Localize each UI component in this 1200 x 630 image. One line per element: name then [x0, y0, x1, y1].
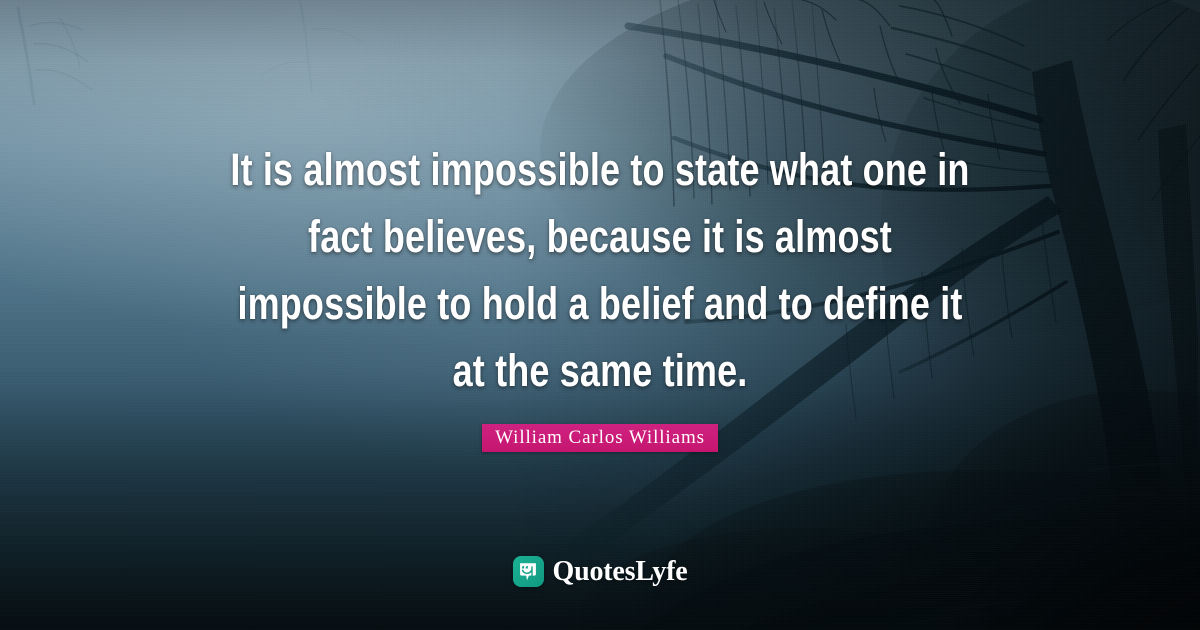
- quote-line: impossible to hold a belief and to defin…: [197, 270, 1003, 337]
- quote-line: It is almost impossible to state what on…: [197, 136, 1003, 203]
- quote-text: It is almost impossible to state what on…: [96, 136, 1104, 404]
- brand-logo[interactable]: QuotesLyfe: [0, 556, 1200, 587]
- brand-name: QuotesLyfe: [553, 557, 688, 587]
- quote-line: fact believes, because it is almost: [197, 203, 1003, 270]
- quote-bubble-icon: [513, 556, 544, 587]
- author-attribution: William Carlos Williams: [0, 424, 1200, 452]
- quote-line: at the same time.: [197, 337, 1003, 404]
- quote-card: It is almost impossible to state what on…: [0, 0, 1200, 630]
- author-name-badge[interactable]: William Carlos Williams: [482, 424, 718, 452]
